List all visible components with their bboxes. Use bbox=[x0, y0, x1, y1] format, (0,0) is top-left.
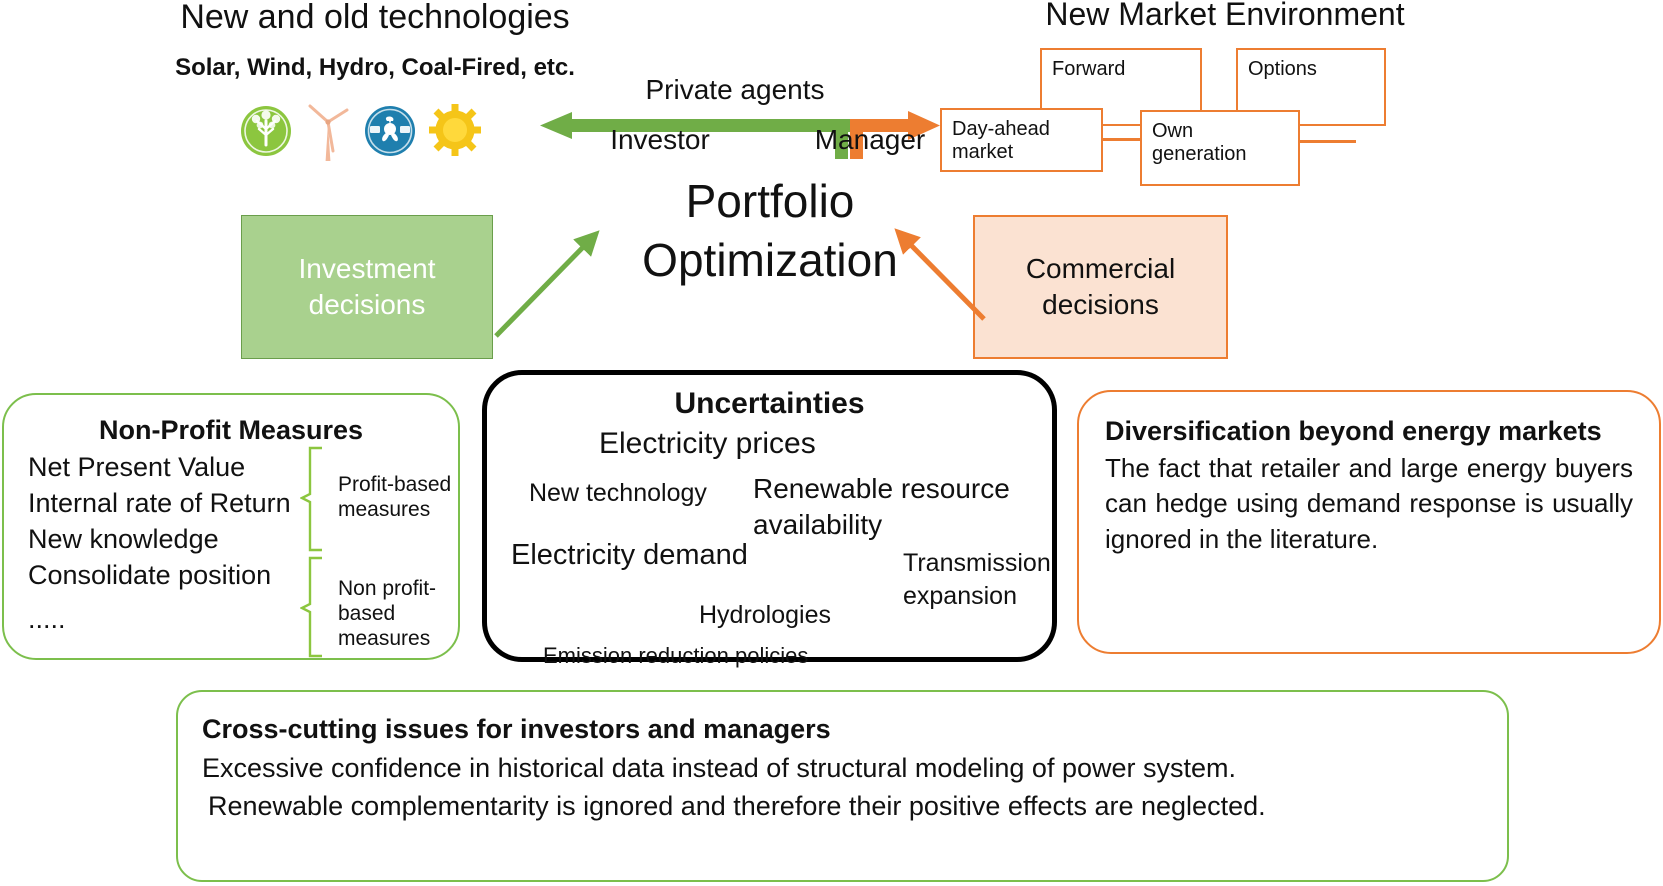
cross-cutting-line: Renewable complementarity is ignored and… bbox=[208, 787, 1507, 825]
commercial-decisions-box[interactable]: Commercial decisions bbox=[973, 215, 1228, 359]
commercial-arrow bbox=[890, 222, 990, 327]
uncertainties-title: Uncertainties bbox=[487, 387, 1052, 421]
wind-turbine-icon bbox=[302, 101, 354, 163]
technologies-title: New and old technologies bbox=[150, 0, 600, 37]
private-agents-label: Private agents bbox=[570, 74, 900, 106]
market-box-own-generation-label: Own generation bbox=[1152, 120, 1247, 165]
market-box-own-generation[interactable]: Own generation bbox=[1140, 110, 1300, 186]
uncertainty-item: Renewable resource availability bbox=[753, 471, 1015, 544]
commercial-decisions-label: Commercial decisions bbox=[975, 251, 1226, 324]
non-profit-item: ..... bbox=[4, 602, 304, 638]
hydro-turbine-icon bbox=[362, 101, 418, 163]
investment-decisions-box[interactable]: Investment decisions bbox=[241, 215, 493, 359]
technologies-subtitle: Solar, Wind, Hydro, Coal-Fired, etc. bbox=[150, 54, 600, 82]
uncertainty-item: Hydrologies bbox=[699, 601, 831, 630]
cross-cutting-panel: Cross-cutting issues for investors and m… bbox=[176, 690, 1509, 882]
measure-group-label: Non profit-based measures bbox=[338, 576, 448, 652]
non-profit-item: Internal rate of Return bbox=[4, 486, 304, 522]
connector-owngen-right bbox=[1296, 140, 1356, 143]
diversification-title: Diversification beyond energy markets bbox=[1105, 414, 1633, 449]
uncertainty-item: Emission reduction policies bbox=[543, 643, 808, 669]
diversification-body: The fact that retailer and large energy … bbox=[1105, 451, 1633, 559]
investor-label: Investor bbox=[560, 124, 760, 156]
manager-label: Manager bbox=[770, 124, 970, 156]
market-box-options-label: Options bbox=[1248, 58, 1317, 80]
sun-icon bbox=[426, 101, 482, 163]
market-environment-title: New Market Environment bbox=[1010, 0, 1440, 33]
non-profit-measures-title: Non-Profit Measures bbox=[4, 415, 458, 446]
measure-group-label: Profit-based measures bbox=[338, 472, 458, 522]
investment-decisions-label: Investment decisions bbox=[242, 251, 492, 324]
diversification-panel: Diversification beyond energy markets Th… bbox=[1077, 390, 1661, 654]
cross-cutting-line: Excessive confidence in historical data … bbox=[202, 749, 1507, 787]
non-profit-item: Consolidate position bbox=[4, 558, 304, 594]
uncertainty-item: New technology bbox=[529, 479, 707, 508]
connector-dayahead-owngen bbox=[1100, 138, 1144, 141]
non-profit-item: Net Present Value bbox=[4, 450, 304, 486]
investment-arrow bbox=[490, 222, 610, 342]
non-profit-item: New knowledge bbox=[4, 522, 304, 558]
technology-icon-row bbox=[238, 98, 478, 166]
measure-group-brackets bbox=[300, 446, 334, 660]
uncertainties-panel: Uncertainties Electricity prices New tec… bbox=[482, 370, 1057, 662]
tree-icon bbox=[238, 101, 294, 163]
non-profit-measures-panel: Non-Profit Measures Net Present Value In… bbox=[2, 393, 460, 660]
uncertainty-item: Electricity prices bbox=[599, 427, 816, 461]
uncertainty-item: Electricity demand bbox=[511, 539, 748, 572]
market-box-forward-label: Forward bbox=[1052, 58, 1125, 80]
cross-cutting-title: Cross-cutting issues for investors and m… bbox=[202, 714, 1507, 745]
uncertainty-item: Transmission expansion bbox=[903, 547, 1051, 612]
